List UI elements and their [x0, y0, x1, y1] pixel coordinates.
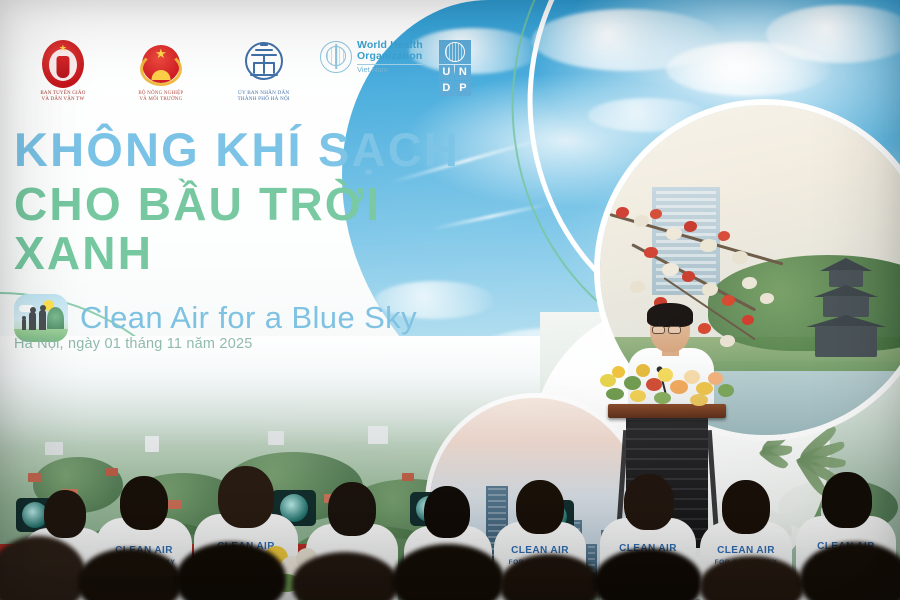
ban-tuyen-giao-emblem: ★ BAN TUYÊN GIÁO VÀ DÂN VẬN TW [14, 40, 112, 102]
undp-letter-u: U [439, 65, 455, 80]
undp-letter-d: D [439, 81, 455, 96]
event-title-vi-line1: KHÔNG KHÍ SẠCH [14, 126, 534, 175]
partner-logo-row: ★ BAN TUYÊN GIÁO VÀ DÂN VẬN TW ★ BỘ NÔNG… [14, 40, 484, 116]
ban-tuyen-giao-icon: ★ [42, 40, 84, 88]
backdrop-title-block: KHÔNG KHÍ SẠCH CHO BẦU TRỜI XANH Clean A… [14, 126, 534, 342]
uy-ban-nhan-dan-caption: ỦY BAN NHÂN DÂN THÀNH PHỐ HÀ NỘI [238, 91, 290, 103]
who-line2: Organization [357, 51, 423, 62]
podium-flower-arrangement [598, 360, 738, 406]
ban-tuyen-giao-caption: BAN TUYÊN GIÁO VÀ DÂN VẬN TW [40, 91, 85, 102]
event-title-en: Clean Air for a Blue Sky [80, 300, 417, 336]
vietnam-national-emblem-icon: ★ [138, 40, 184, 88]
event-title-vi-line2: CHO BẦU TRỜI XANH [14, 180, 534, 278]
bo-nong-nghiep-caption: BỘ NÔNG NGHIỆP VÀ MÔI TRƯỜNG [138, 91, 183, 102]
who-country: Viet Nam [357, 66, 423, 74]
un-emblem-icon [439, 40, 471, 64]
undp-letter-n: N [455, 65, 471, 80]
who-emblem-icon [320, 41, 352, 73]
world-health-organization-logo: World Health Organization Viet Nam [318, 40, 426, 74]
khue-van-cac-gate-icon [241, 40, 287, 88]
undp-logo: U N D P [425, 40, 484, 96]
bo-nong-nghiep-moi-truong-emblem: ★ BỘ NÔNG NGHIỆP VÀ MÔI TRƯỜNG [112, 40, 210, 102]
audience-crowd: CLEAN AIR FOR A BLUE SKY CLEAN AIR FOR A… [0, 440, 900, 600]
uy-ban-nhan-dan-ha-noi-emblem: ỦY BAN NHÂN DÂN THÀNH PHỐ HÀ NỘI [210, 40, 318, 103]
event-photo: ★ BAN TUYÊN GIÁO VÀ DÂN VẬN TW ★ BỘ NÔNG… [0, 0, 900, 600]
event-date-line: Hà Nội, ngày 01 tháng 11 năm 2025 [14, 336, 253, 352]
undp-letter-p: P [455, 81, 471, 96]
